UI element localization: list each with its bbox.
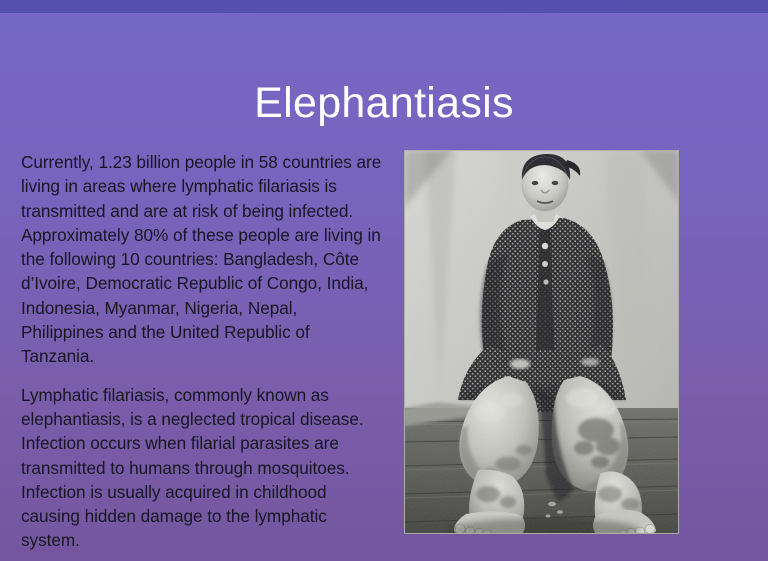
presentation-slide: Elephantiasis Currently, 1.23 billion pe… xyxy=(0,0,768,561)
slide-top-accent-band xyxy=(0,0,768,13)
slide-body-text: Currently, 1.23 billion people in 58 cou… xyxy=(21,150,383,553)
historical-elephantiasis-patient-photograph xyxy=(404,150,679,534)
body-paragraph-1: Currently, 1.23 billion people in 58 cou… xyxy=(21,150,383,369)
body-paragraph-2: Lymphatic filariasis, commonly known as … xyxy=(21,383,383,553)
page-title: Elephantiasis xyxy=(0,78,768,128)
